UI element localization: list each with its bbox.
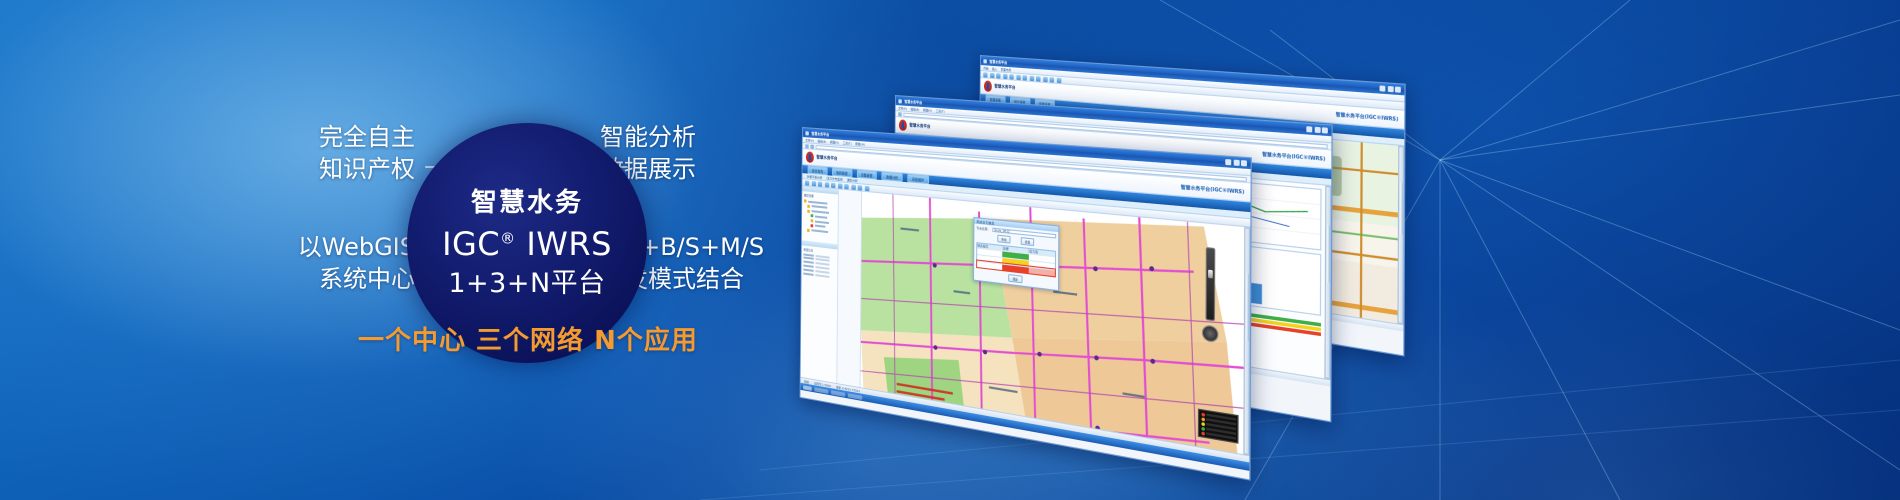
status-ready: 就绪 bbox=[804, 379, 809, 384]
ribbon-group-2[interactable]: 页面布局 bbox=[1001, 67, 1012, 72]
feature-bottom-left-line2: 系统中心 bbox=[248, 264, 415, 296]
feature-bottom-left-line1: 以WebGIS bbox=[248, 232, 415, 264]
feature-top-left-line1: 完全自主 bbox=[265, 122, 415, 154]
ribbon-group-1[interactable]: 插入 bbox=[992, 66, 997, 70]
menu-tools[interactable]: 工具(T) bbox=[936, 108, 945, 113]
feature-top-left-line2: 知识产权 bbox=[265, 154, 415, 186]
window-controls[interactable] bbox=[1225, 159, 1247, 166]
map-scrollbar-back[interactable] bbox=[1397, 146, 1404, 325]
window-controls[interactable] bbox=[1306, 126, 1328, 133]
window-back-title: 智慧水务平台 bbox=[989, 59, 1007, 65]
window-front[interactable]: 智慧水务平台 文件(F) 编辑(E) 视图(V) 工具(T) 帮助(H) 智慧水… bbox=[800, 127, 1252, 481]
tool-item[interactable] bbox=[841, 192, 860, 194]
zoom-slider-handle[interactable] bbox=[1208, 270, 1213, 279]
window-icon bbox=[983, 59, 986, 63]
menu-view[interactable]: 视图(V) bbox=[923, 108, 932, 113]
window-back-product: 智慧水务平台(IGC®IWRS) bbox=[1336, 111, 1399, 123]
sub-tab-2[interactable]: 漏损分析 bbox=[847, 177, 858, 182]
panel-scrollbar-middle[interactable] bbox=[1324, 186, 1331, 380]
feature-top-right: 智能分析 数据展示 bbox=[600, 122, 810, 185]
feature-top-right-line2: 数据展示 bbox=[600, 154, 810, 186]
menu-help[interactable]: 帮助(H) bbox=[855, 141, 865, 146]
brand-product-code: IGC® IWRS bbox=[442, 228, 612, 260]
menu-tools[interactable]: 工具(T) bbox=[843, 140, 852, 145]
company-logo-icon bbox=[984, 80, 992, 92]
feature-bottom-left: 以WebGIS 系统中心 bbox=[248, 232, 415, 295]
menu-edit[interactable]: 编辑(E) bbox=[817, 139, 826, 144]
ribbon-group-0[interactable]: 开始 bbox=[983, 66, 988, 70]
tool-item[interactable] bbox=[841, 192, 860, 194]
confirm-button[interactable]: 确定 bbox=[1009, 274, 1023, 283]
window-middle-title: 智慧水务平台 bbox=[904, 99, 922, 105]
tool-palette-panel[interactable] bbox=[837, 189, 862, 387]
banner-root: 智慧水务平台 开始 插入 页面布局 智慧水务平台 智慧水务平台(IGC®IWRS… bbox=[0, 0, 1900, 500]
screenshot-stack: 智慧水务平台 开始 插入 页面布局 智慧水务平台 智慧水务平台(IGC®IWRS… bbox=[790, 55, 1330, 365]
tool-item[interactable] bbox=[841, 192, 860, 194]
window-controls[interactable] bbox=[1380, 85, 1401, 92]
brand-iwrs: IWRS bbox=[526, 225, 612, 263]
window-front-brand: 智慧水务平台 bbox=[816, 155, 837, 161]
brand-platform-line: 1+3+N平台 bbox=[448, 270, 605, 297]
hydraulic-info-panel[interactable]: 测点水力信息 节点名称： Node_0012 查询 重置 bbox=[973, 217, 1059, 291]
window-middle-brand: 智慧水务平台 bbox=[909, 123, 930, 129]
map-view-front[interactable]: 测点水力信息 节点名称： Node_0012 查询 重置 bbox=[861, 192, 1245, 455]
tool-item[interactable] bbox=[841, 192, 860, 194]
menu-view[interactable]: 视图(V) bbox=[830, 140, 839, 145]
window-back-brand: 智慧水务平台 bbox=[994, 84, 1015, 90]
registered-mark-icon: ® bbox=[500, 229, 516, 247]
window-front-title: 智慧水务平台 bbox=[811, 131, 829, 137]
tool-item[interactable] bbox=[841, 192, 860, 194]
window-front-product: 智慧水务平台(IGC®IWRS) bbox=[1181, 183, 1245, 195]
reset-button[interactable]: 重置 bbox=[1021, 237, 1035, 246]
menu-edit[interactable]: 编辑(E) bbox=[910, 107, 919, 112]
panel-body: 节点名称： Node_0012 查询 重置 bbox=[974, 224, 1058, 290]
brand-chinese-name: 智慧水务 bbox=[471, 190, 583, 216]
feature-top-left: 完全自主 知识产权 bbox=[265, 122, 415, 185]
menu-file[interactable]: 文件(F) bbox=[898, 106, 907, 111]
map-scrollbar-front[interactable] bbox=[1243, 227, 1250, 455]
company-logo-icon bbox=[899, 119, 907, 131]
window-icon bbox=[898, 99, 901, 103]
sub-tab-1[interactable]: 压力分布监测 bbox=[827, 176, 843, 181]
window-middle-product: 智慧水务平台(IGC®IWRS) bbox=[1262, 150, 1325, 162]
window-front-body: 图层管理 属性信息 bbox=[801, 186, 1251, 455]
query-button[interactable]: 查询 bbox=[997, 235, 1010, 244]
brand-igc: IGC bbox=[442, 225, 500, 263]
tool-item[interactable] bbox=[841, 192, 860, 194]
map-zoom-slider[interactable] bbox=[1205, 247, 1215, 321]
node-field-label: 节点名称： bbox=[976, 226, 990, 232]
tool-item[interactable] bbox=[841, 192, 860, 194]
feature-top-right-line1: 智能分析 bbox=[600, 122, 810, 154]
tool-item[interactable] bbox=[841, 192, 860, 194]
tagline: 一个中心 三个网络 N个应用 bbox=[358, 320, 698, 357]
